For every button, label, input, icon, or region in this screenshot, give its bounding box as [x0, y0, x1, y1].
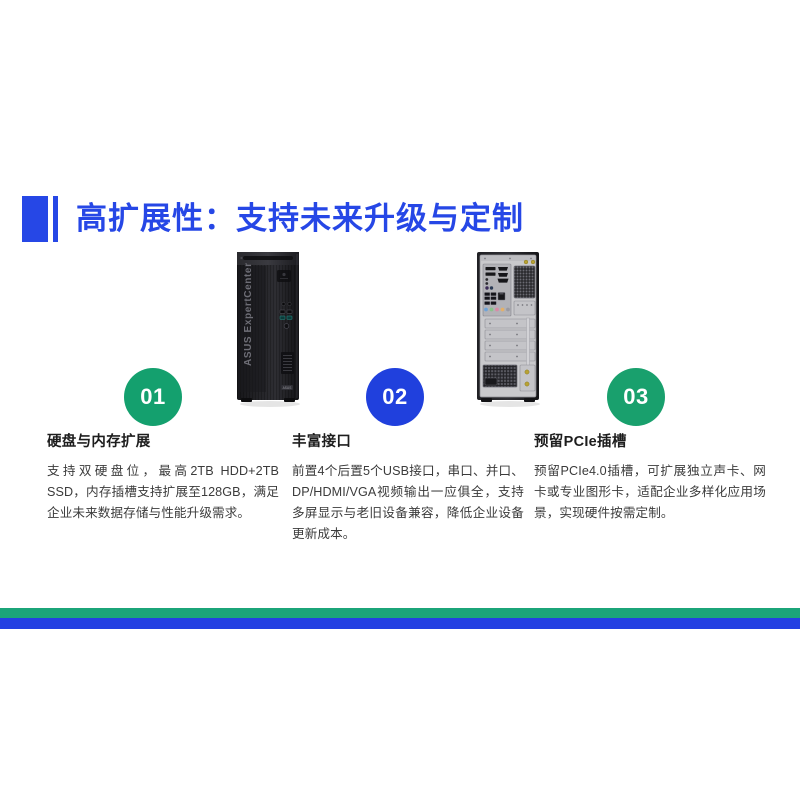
footer-green-bar	[0, 608, 800, 618]
feature-badge-01: 01	[124, 368, 182, 426]
svg-text:ASUS ExpertCenter: ASUS ExpertCenter	[243, 262, 254, 366]
feature-column-1: 硬盘与内存扩展 支持双硬盘位，最高2TB HDD+2TB SSD，内存插槽支持扩…	[47, 430, 279, 524]
product-image-tower-rear	[465, 248, 555, 410]
title-accent-thick-bar	[22, 196, 48, 242]
feature-badge-03: 03	[607, 368, 665, 426]
page-title-text: 高扩展性：支持未来升级与定制	[76, 196, 524, 242]
feature-column-3: 预留PCIe插槽 预留PCIe4.0插槽，可扩展独立声卡、网卡或专业图形卡，适配…	[534, 430, 766, 524]
feature-body-1: 支持双硬盘位，最高2TB HDD+2TB SSD，内存插槽支持扩展至128GB，…	[47, 461, 279, 524]
feature-badge-02: 02	[366, 368, 424, 426]
feature-body-2: 前置4个后置5个USB接口，串口、并口、DP/HDMI/VGA视频输出一应俱全，…	[292, 461, 524, 545]
page-title: 高扩展性：支持未来升级与定制	[22, 196, 524, 242]
title-accent-thin-bar	[53, 196, 58, 242]
feature-title-3: 预留PCIe插槽	[534, 430, 766, 451]
feature-column-2: 丰富接口 前置4个后置5个USB接口，串口、并口、DP/HDMI/VGA视频输出…	[292, 430, 524, 545]
slide-canvas: 高扩展性：支持未来升级与定制	[0, 0, 800, 800]
footer-blue-bar	[0, 618, 800, 629]
svg-text:ASUS: ASUS	[283, 386, 292, 390]
feature-title-2: 丰富接口	[292, 430, 524, 451]
feature-body-3: 预留PCIe4.0插槽，可扩展独立声卡、网卡或专业图形卡，适配企业多样化应用场景…	[534, 461, 766, 524]
feature-title-1: 硬盘与内存扩展	[47, 430, 279, 451]
tower-rear-icon	[465, 248, 555, 410]
tower-front-icon: ASUS ExpertCenter	[225, 248, 315, 410]
product-image-tower-front: ASUS ExpertCenter	[225, 248, 315, 410]
